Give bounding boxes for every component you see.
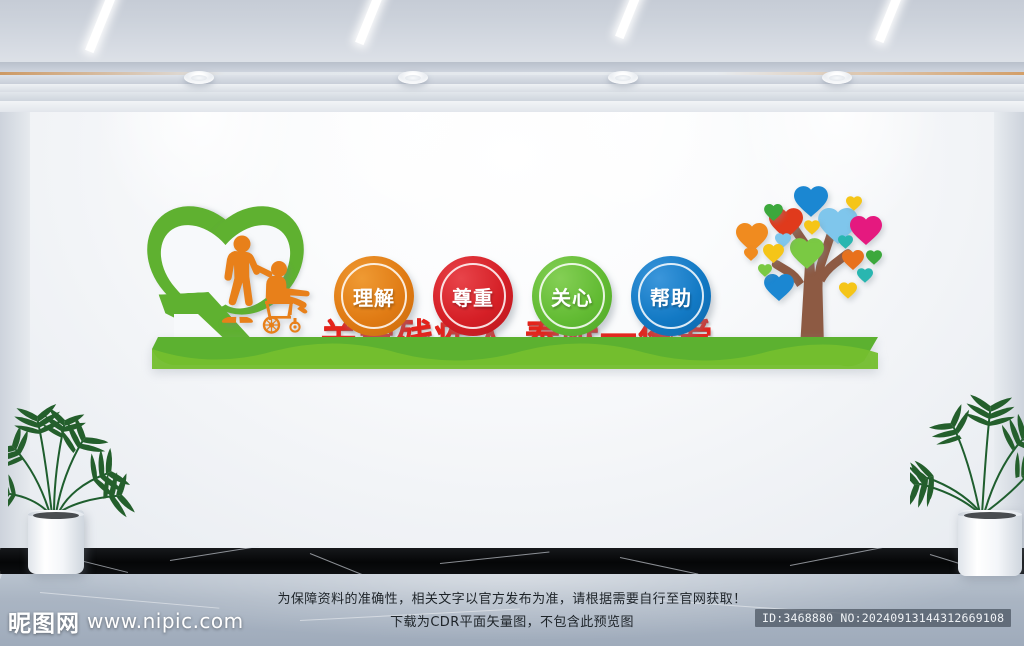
- watermark-cn: 昵图网: [8, 604, 80, 638]
- ceiling-trim-3: [0, 84, 1024, 92]
- heart-tree: [734, 182, 890, 348]
- badge-help[interactable]: 帮助: [631, 256, 711, 336]
- heart-icon: [838, 235, 853, 249]
- heart-icon: [790, 238, 824, 269]
- caregiver-pushing-wheelchair-icon: [212, 232, 324, 342]
- badge-row: 理解 尊重 关心 帮助: [334, 256, 710, 342]
- badge-label: 理解: [334, 256, 414, 336]
- ceiling-trim-1: [0, 62, 1024, 72]
- watermark-en: www.nipic.com: [87, 609, 244, 633]
- wall-artwork: 关爱残疾人 奉献一份爱 理解 尊重 关心 帮助: [0, 112, 1024, 548]
- heart-icon: [857, 268, 873, 283]
- watermark: 昵图网 www.nipic.com: [8, 604, 244, 638]
- tree-heart-cluster: [734, 182, 890, 348]
- green-ground-band: [152, 335, 884, 369]
- ceiling-spotlight: [398, 71, 428, 84]
- heart-icon: [763, 244, 784, 263]
- ceiling-light-strip: [355, 0, 387, 45]
- badge-label: 关心: [532, 256, 612, 336]
- heart-icon: [846, 196, 862, 211]
- heart-icon: [839, 282, 857, 299]
- plant-pot: [28, 510, 84, 574]
- badge-respect[interactable]: 尊重: [433, 256, 513, 336]
- ceiling-spotlight: [608, 71, 638, 84]
- ceiling: [0, 0, 1024, 68]
- badge-label: 尊重: [433, 256, 513, 336]
- heart-icon: [744, 248, 758, 261]
- heart-icon: [764, 204, 783, 221]
- badge-care[interactable]: 关心: [532, 256, 612, 336]
- ceiling-trim-2: [0, 75, 1024, 84]
- pot-soil: [964, 512, 1016, 519]
- screenshot-scene: 关爱残疾人 奉献一份爱 理解 尊重 关心 帮助: [0, 0, 1024, 646]
- plant-pot: [958, 510, 1022, 576]
- heart-icon: [764, 274, 794, 301]
- heart-icon: [758, 264, 772, 277]
- heart-icon: [866, 250, 882, 265]
- asset-id-badge: ID:3468880 NO:20240913144312669108: [755, 609, 1011, 627]
- ceiling-light-strip: [85, 0, 117, 53]
- pot-soil: [33, 512, 79, 519]
- ceiling-spotlight: [822, 71, 852, 84]
- heart-icon: [804, 220, 820, 235]
- potted-palm-right: [910, 378, 1024, 576]
- ceiling-spotlight: [184, 71, 214, 84]
- ceiling-trim-4: [0, 92, 1024, 101]
- marble-baseboard: [0, 548, 1024, 574]
- badge-understanding[interactable]: 理解: [334, 256, 414, 336]
- cornice: [0, 101, 1024, 112]
- badge-label: 帮助: [631, 256, 711, 336]
- ceiling-light-strip: [615, 0, 647, 39]
- potted-palm-left: [8, 392, 138, 577]
- ceiling-light-strip: [875, 0, 907, 43]
- heart-icon: [842, 250, 864, 270]
- heart-icon: [850, 216, 882, 245]
